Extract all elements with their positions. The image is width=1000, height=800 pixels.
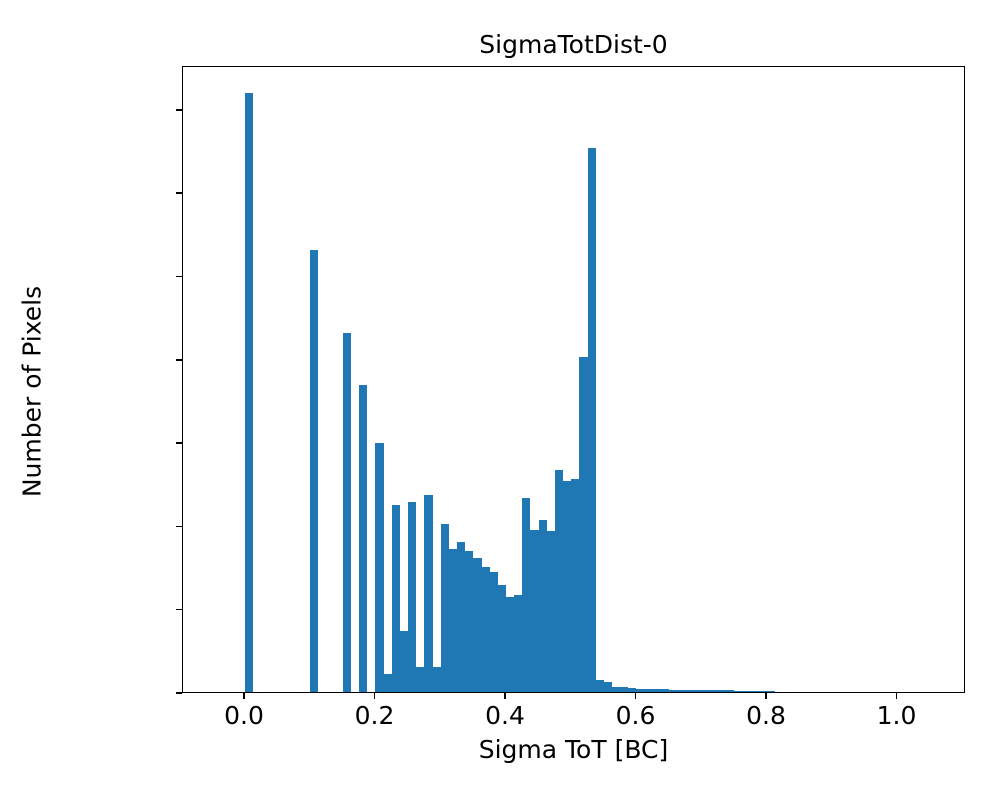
x-tick-mark: [896, 693, 898, 699]
x-tick-mark: [765, 693, 767, 699]
x-tick-label: 0.6: [575, 702, 695, 730]
x-tick-label: 0.4: [445, 702, 565, 730]
x-axis-label: Sigma ToT [BC]: [182, 736, 965, 764]
x-tick-mark: [374, 693, 376, 699]
x-tick-label: 0.8: [706, 702, 826, 730]
x-tick-mark: [635, 693, 637, 699]
x-tick-label: 0.0: [184, 702, 304, 730]
x-tick-label: 1.0: [836, 702, 956, 730]
matplotlib-figure: SigmaTotDist-0 0200040006000800010000120…: [0, 0, 1000, 800]
x-tick-label: 0.2: [314, 702, 434, 730]
x-axis: 0.00.20.40.60.81.0: [0, 0, 1000, 800]
x-tick-mark: [504, 693, 506, 699]
x-tick-mark: [243, 693, 245, 699]
y-axis-label: Number of Pixels: [20, 232, 45, 552]
